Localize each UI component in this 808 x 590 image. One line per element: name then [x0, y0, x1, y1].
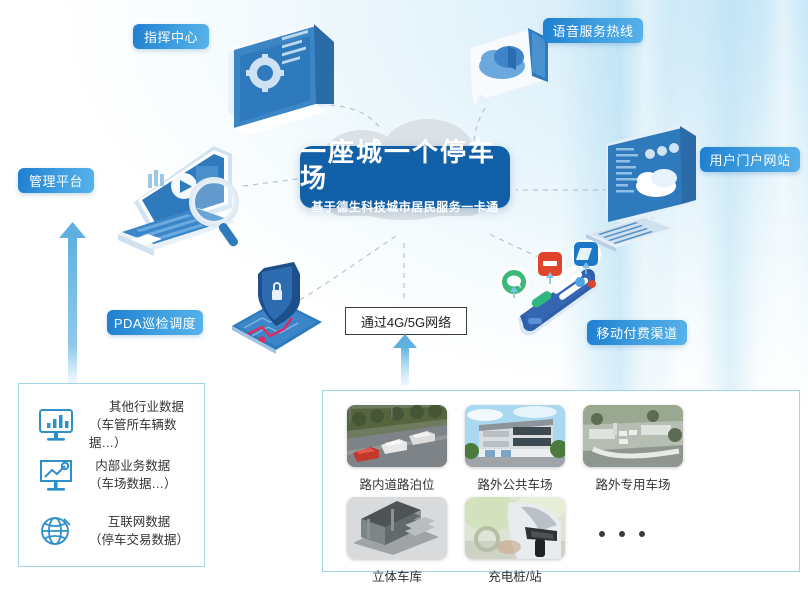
data-source-title: 其他行业数据: [109, 398, 184, 416]
tag-mobile-payment[interactable]: 移动付费渠道: [587, 320, 687, 345]
tag-user-portal[interactable]: 用户门户网站: [700, 147, 800, 172]
banner-title: 一座城一个停车场: [300, 139, 510, 191]
data-source-detail: （停车交易数据）: [89, 531, 189, 549]
dot: [619, 531, 625, 537]
public-lot-building-photo: [465, 405, 565, 467]
diagram-canvas: 一座城一个停车场 基于德生科技城市居民服务一卡通 指挥中心 语音服务热线 管理平…: [0, 0, 808, 590]
data-flow-up-arrow-icon: [56, 222, 90, 384]
facility-item[interactable]: 路内道路泊位: [347, 405, 447, 493]
line-chart-monitor-icon: [33, 454, 79, 496]
network-box-label: 通过4G/5G网络: [361, 312, 451, 331]
data-sources-panel: 其他行业数据 （车管所车辆数据…） 内部业务数据 （车场数据…）: [18, 383, 205, 567]
facility-item[interactable]: 路外公共车场: [465, 405, 565, 493]
tag-pda-dispatch[interactable]: PDA巡检调度: [107, 310, 203, 335]
laptop-play-search-icon: [92, 138, 252, 263]
facility-label: 路外专用车场: [595, 474, 670, 493]
tag-label: 移动付费渠道: [596, 323, 677, 342]
facility-label: 路内道路泊位: [359, 474, 434, 493]
tag-label: 指挥中心: [144, 27, 198, 46]
data-source-title: 互联网数据: [108, 513, 171, 531]
data-source-row[interactable]: 内部业务数据 （车场数据…）: [33, 454, 177, 496]
ev-charging-photo: [465, 497, 565, 559]
facility-label: 路外公共车场: [477, 474, 552, 493]
network-up-arrow-icon: [390, 334, 420, 386]
tag-label: PDA巡检调度: [114, 313, 196, 332]
facility-item[interactable]: 立体车库: [347, 497, 447, 585]
facilities-panel: 路内道路泊位: [322, 390, 800, 572]
dedicated-lot-aerial-photo: [583, 405, 683, 467]
data-source-row[interactable]: 互联网数据 （停车交易数据）: [33, 510, 189, 552]
more-facilities-indicator: [599, 531, 645, 537]
facility-label: 立体车库: [372, 566, 422, 585]
data-source-detail: （车管所车辆数据…）: [89, 416, 204, 452]
tag-command-center[interactable]: 指挥中心: [133, 24, 209, 49]
dot: [639, 531, 645, 537]
payment-app-icons: [492, 240, 612, 300]
center-banner: 一座城一个停车场 基于德生科技城市居民服务一卡通: [300, 146, 510, 208]
data-source-title: 内部业务数据: [95, 457, 170, 475]
tag-label: 管理平台: [29, 171, 83, 190]
banner-subtitle: 基于德生科技城市居民服务一卡通: [311, 198, 499, 215]
tag-label: 语音服务热线: [552, 21, 633, 40]
bar-chart-monitor-icon: [33, 404, 79, 446]
tag-management-platform[interactable]: 管理平台: [18, 168, 94, 193]
facility-label: 充电桩/站: [488, 566, 541, 585]
tag-label: 用户门户网站: [709, 150, 790, 169]
data-source-detail: （车场数据…）: [89, 475, 177, 493]
globe-network-icon: [33, 510, 79, 552]
data-source-row[interactable]: 其他行业数据 （车管所车辆数据…）: [33, 398, 204, 452]
dot: [599, 531, 605, 537]
tag-voice-hotline[interactable]: 语音服务热线: [543, 18, 643, 43]
shield-lock-tablet-icon: [218, 260, 330, 360]
street-parking-photo: [347, 405, 447, 467]
facility-item[interactable]: 路外专用车场: [583, 405, 683, 493]
network-box: 通过4G/5G网络: [345, 307, 467, 335]
multilevel-garage-photo: [347, 497, 447, 559]
facility-item[interactable]: 充电桩/站: [465, 497, 565, 585]
